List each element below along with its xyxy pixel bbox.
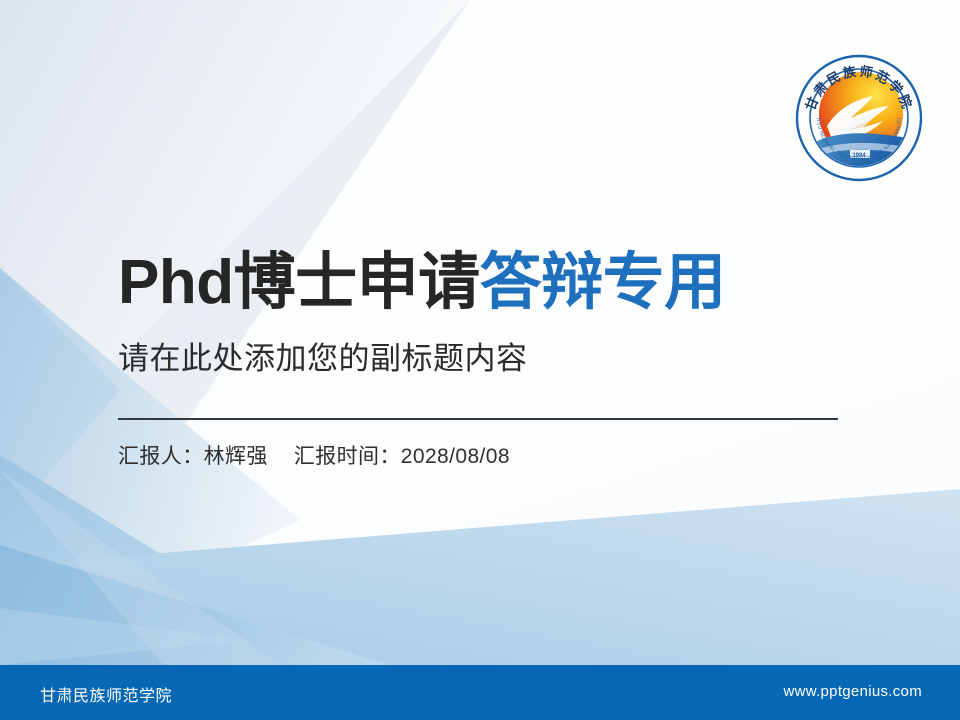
- page-subtitle: 请在此处添加您的副标题内容: [118, 333, 878, 378]
- title-plain-part: Phd博士申请: [118, 248, 480, 317]
- byline: 汇报人：林辉强汇报时间：2028/08/08: [118, 440, 878, 470]
- footer-bar: 甘肃民族师范学院 www.pptgenius.com: [0, 665, 960, 720]
- presenter-label: 汇报人：林辉强: [118, 445, 268, 468]
- page-title: Phd博士申请答辩专用: [118, 250, 878, 317]
- footer-website-url[interactable]: www.pptgenius.com: [784, 683, 923, 700]
- title-slide: 1984 甘肃民族师范学院 GANSU NORMAL UNIVERSITY FO…: [0, 0, 960, 720]
- university-logo: 1984 甘肃民族师范学院 GANSU NORMAL UNIVERSITY FO…: [793, 52, 925, 184]
- footer-school-name: 甘肃民族师范学院: [40, 682, 172, 706]
- title-accent-part: 答辩专用: [480, 248, 726, 317]
- divider-rule: [118, 418, 838, 420]
- title-text-block: Phd博士申请答辩专用 请在此处添加您的副标题内容 汇报人：林辉强汇报时间：20…: [118, 250, 878, 470]
- report-date-label: 汇报时间：2028/08/08: [294, 445, 510, 468]
